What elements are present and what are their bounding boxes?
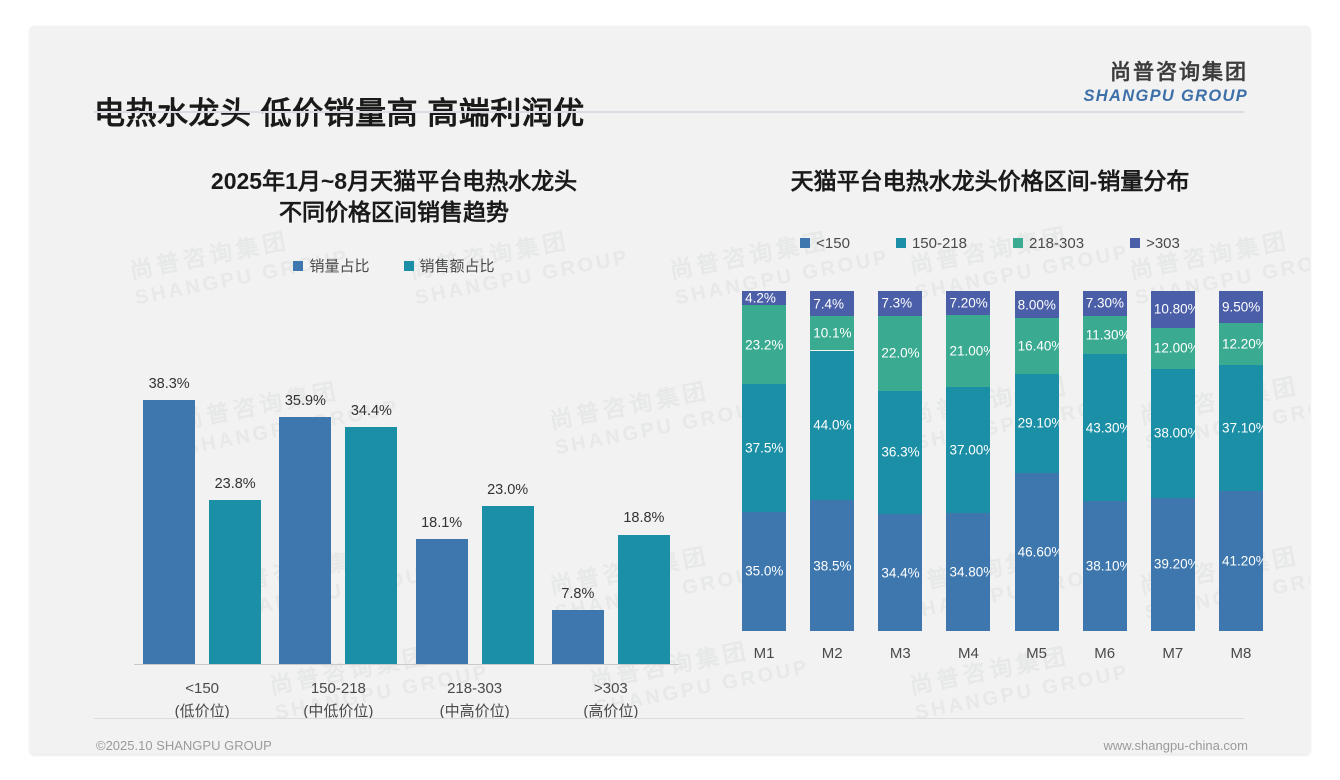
stack-segment-M8->303[interactable]: 9.50% xyxy=(1219,291,1263,323)
legend-item-right-1[interactable]: 150-218 xyxy=(896,235,967,252)
stack-segment-value-label: 7.20% xyxy=(949,296,987,311)
chart-panel-price-distribution: 天猫平台电热水龙头价格区间-销量分布 <150150-218218-303>30… xyxy=(710,166,1270,726)
legend-swatch-icon xyxy=(404,261,414,271)
slide-header: 电热水龙头 低价销量高 高端利润优 尚普咨询集团 SHANGPU GROUP xyxy=(30,26,1310,116)
stack-segment-value-label: 41.20% xyxy=(1222,553,1263,568)
stack-segment-value-label: 29.10% xyxy=(1018,416,1059,431)
stack-segment-value-label: 38.10% xyxy=(1086,559,1127,574)
stack-segment-value-label: 34.80% xyxy=(949,564,990,579)
bar-value-label: 18.1% xyxy=(408,515,476,531)
stack-segment-value-label: 36.3% xyxy=(881,445,919,460)
x-axis-category-label: 150-218(中低价位) xyxy=(270,678,406,723)
stack-segment-M8-218-303[interactable]: 12.20% xyxy=(1219,323,1263,364)
left-chart-plot-area: 38.3%23.8%<150(低价位)35.9%34.4%150-218(中低价… xyxy=(134,316,679,726)
stack-segment-value-label: 23.2% xyxy=(745,337,783,352)
stacked-bar-M2[interactable]: 7.4%10.1%44.0%38.5% xyxy=(810,291,854,631)
legend-item-label: 销售额占比 xyxy=(420,255,495,276)
bar-<150-销售额占比[interactable] xyxy=(209,500,261,664)
stack-segment-M2-150-218[interactable]: 44.0% xyxy=(810,351,854,501)
x-axis-line xyxy=(134,664,679,665)
stack-segment-value-label: 34.4% xyxy=(881,565,919,580)
x-axis-month-label: M1 xyxy=(730,645,798,662)
bar-218-303-销量占比[interactable] xyxy=(416,539,468,664)
bar-value-label: 38.3% xyxy=(135,376,203,392)
stack-segment-value-label: 9.50% xyxy=(1222,300,1260,315)
stack-segment-M2->303[interactable]: 7.4% xyxy=(810,291,854,316)
stack-segment-M6->303[interactable]: 7.30% xyxy=(1083,291,1127,316)
stacked-bar-M4[interactable]: 7.20%21.00%37.00%34.80% xyxy=(946,291,990,631)
stack-segment-value-label: 10.80% xyxy=(1154,302,1195,317)
stack-segment-value-label: 12.20% xyxy=(1222,337,1263,352)
stack-segment-value-label: 16.40% xyxy=(1018,339,1059,354)
stack-segment-M4-218-303[interactable]: 21.00% xyxy=(946,315,990,386)
legend-item-label: 150-218 xyxy=(912,235,967,252)
stack-segment-M5-<150[interactable]: 46.60% xyxy=(1015,473,1059,631)
legend-item-label: >303 xyxy=(1146,235,1180,252)
stack-segment-M7->303[interactable]: 10.80% xyxy=(1151,291,1195,328)
logo-english-text: SHANGPU GROUP xyxy=(1084,88,1249,105)
bar-<150-销量占比[interactable] xyxy=(143,400,195,664)
bar-150-218-销量占比[interactable] xyxy=(279,417,331,664)
x-axis-category-label: >303(高价位) xyxy=(543,678,679,723)
stack-segment-value-label: 46.60% xyxy=(1018,544,1059,559)
stack-segment-M1-218-303[interactable]: 23.2% xyxy=(742,305,786,384)
brand-logo: 尚普咨询集团 SHANGPU GROUP xyxy=(1084,62,1249,105)
stack-segment-value-label: 37.5% xyxy=(745,441,783,456)
stack-segment-value-label: 7.30% xyxy=(1086,296,1124,311)
x-axis-month-label: M2 xyxy=(798,645,866,662)
right-chart-title: 天猫平台电热水龙头价格区间-销量分布 xyxy=(710,166,1270,197)
stack-segment-M6-150-218[interactable]: 43.30% xyxy=(1083,354,1127,501)
legend-item-left-0[interactable]: 销量占比 xyxy=(293,255,369,276)
bar->303-销量占比[interactable] xyxy=(552,610,604,664)
stack-segment-M1->303[interactable]: 4.2% xyxy=(742,291,786,305)
legend-item-right-2[interactable]: 218-303 xyxy=(1013,235,1084,252)
stacked-bar-M3[interactable]: 7.3%22.0%36.3%34.4% xyxy=(878,291,922,631)
header-divider xyxy=(94,111,1244,113)
slide-card: 电热水龙头 低价销量高 高端利润优 尚普咨询集团 SHANGPU GROUP 尚… xyxy=(30,26,1310,754)
footer-copyright: ©2025.10 SHANGPU GROUP xyxy=(96,738,272,753)
stack-segment-value-label: 37.10% xyxy=(1222,420,1263,435)
stack-segment-M7-218-303[interactable]: 12.00% xyxy=(1151,328,1195,369)
bar->303-销售额占比[interactable] xyxy=(618,535,670,665)
stack-segment-M4-150-218[interactable]: 37.00% xyxy=(946,387,990,513)
bar-218-303-销售额占比[interactable] xyxy=(482,506,534,664)
stacked-bar-M8[interactable]: 9.50%12.20%37.10%41.20% xyxy=(1219,291,1263,631)
stacked-bar-M1[interactable]: 4.2%23.2%37.5%35.0% xyxy=(742,291,786,631)
stack-segment-M5->303[interactable]: 8.00% xyxy=(1015,291,1059,318)
x-axis-month-label: M6 xyxy=(1071,645,1139,662)
bar-value-label: 23.8% xyxy=(201,476,269,492)
stack-segment-M5-150-218[interactable]: 29.10% xyxy=(1015,374,1059,473)
legend-item-right-0[interactable]: <150 xyxy=(800,235,850,252)
left-chart-title-line2: 不同价格区间销售趋势 xyxy=(94,197,694,228)
left-chart-title-line1: 2025年1月~8月天猫平台电热水龙头 xyxy=(94,166,694,197)
stack-segment-value-label: 11.30% xyxy=(1086,328,1127,343)
stack-segment-M8-150-218[interactable]: 37.10% xyxy=(1219,365,1263,491)
stack-segment-value-label: 37.00% xyxy=(949,442,990,457)
bar-150-218-销售额占比[interactable] xyxy=(345,427,397,664)
stack-segment-value-label: 38.00% xyxy=(1154,426,1195,441)
x-axis-month-label: M3 xyxy=(866,645,934,662)
stack-segment-M3-150-218[interactable]: 36.3% xyxy=(878,391,922,514)
stack-segment-M2-<150[interactable]: 38.5% xyxy=(810,500,854,631)
stack-segment-M7-150-218[interactable]: 38.00% xyxy=(1151,369,1195,498)
legend-swatch-icon xyxy=(1013,238,1023,248)
bar-value-label: 23.0% xyxy=(474,482,542,498)
stack-segment-M1-<150[interactable]: 35.0% xyxy=(742,512,786,631)
stack-segment-value-label: 7.3% xyxy=(881,296,912,311)
bar-value-label: 35.9% xyxy=(271,393,339,409)
stacked-bar-M5[interactable]: 8.00%16.40%29.10%46.60% xyxy=(1015,291,1059,631)
stack-segment-value-label: 43.30% xyxy=(1086,420,1127,435)
legend-item-label: 销量占比 xyxy=(309,255,369,276)
legend-swatch-icon xyxy=(896,238,906,248)
left-chart-legend: 销量占比销售额占比 xyxy=(94,255,694,276)
footer-divider xyxy=(94,718,1244,719)
x-axis-month-label: M5 xyxy=(1003,645,1071,662)
category-tier-text: (高价位) xyxy=(543,701,679,724)
x-axis-category-label: 218-303(中高价位) xyxy=(407,678,543,723)
legend-item-label: <150 xyxy=(816,235,850,252)
slide-root: 电热水龙头 低价销量高 高端利润优 尚普咨询集团 SHANGPU GROUP 尚… xyxy=(0,0,1340,780)
stack-segment-M5-218-303[interactable]: 16.40% xyxy=(1015,318,1059,374)
category-range-text: 150-218 xyxy=(270,678,406,701)
stack-segment-value-label: 22.0% xyxy=(881,346,919,361)
x-axis-month-label: M8 xyxy=(1207,645,1275,662)
bar-value-label: 18.8% xyxy=(610,510,678,526)
category-tier-text: (低价位) xyxy=(134,701,270,724)
stack-segment-value-label: 4.2% xyxy=(745,291,776,305)
x-axis-month-label: M4 xyxy=(934,645,1002,662)
stack-segment-M3-218-303[interactable]: 22.0% xyxy=(878,316,922,391)
stack-segment-value-label: 7.4% xyxy=(813,296,844,311)
stack-segment-value-label: 8.00% xyxy=(1018,297,1056,312)
chart-panel-sales-trend: 2025年1月~8月天猫平台电热水龙头 不同价格区间销售趋势 销量占比销售额占比… xyxy=(94,166,694,726)
legend-swatch-icon xyxy=(293,261,303,271)
stack-segment-M3->303[interactable]: 7.3% xyxy=(878,291,922,316)
legend-swatch-icon xyxy=(1130,238,1140,248)
legend-item-right-3[interactable]: >303 xyxy=(1130,235,1180,252)
stack-segment-M3-<150[interactable]: 34.4% xyxy=(878,514,922,631)
bar-value-label: 34.4% xyxy=(337,403,405,419)
logo-chinese-text: 尚普咨询集团 xyxy=(1084,62,1249,83)
x-axis-category-label: <150(低价位) xyxy=(134,678,270,723)
stack-segment-value-label: 21.00% xyxy=(949,344,990,359)
stack-segment-M8-<150[interactable]: 41.20% xyxy=(1219,491,1263,631)
stack-segment-value-label: 38.5% xyxy=(813,558,851,573)
stacked-bar-M7[interactable]: 10.80%12.00%38.00%39.20% xyxy=(1151,291,1195,631)
stack-segment-M2-218-303[interactable]: 10.1% xyxy=(810,316,854,350)
stack-segment-value-label: 10.1% xyxy=(813,326,851,341)
legend-item-label: 218-303 xyxy=(1029,235,1084,252)
legend-item-left-1[interactable]: 销售额占比 xyxy=(404,255,495,276)
category-range-text: <150 xyxy=(134,678,270,701)
left-chart-title: 2025年1月~8月天猫平台电热水龙头 不同价格区间销售趋势 xyxy=(94,166,694,227)
stack-segment-M4->303[interactable]: 7.20% xyxy=(946,291,990,315)
category-range-text: 218-303 xyxy=(407,678,543,701)
stack-segment-value-label: 35.0% xyxy=(745,564,783,579)
category-tier-text: (中低价位) xyxy=(270,701,406,724)
right-chart-legend: <150150-218218-303>303 xyxy=(710,235,1270,252)
stack-segment-value-label: 44.0% xyxy=(813,418,851,433)
stack-segment-M4-<150[interactable]: 34.80% xyxy=(946,513,990,631)
stack-segment-value-label: 39.20% xyxy=(1154,557,1195,572)
legend-swatch-icon xyxy=(800,238,810,248)
stacked-bar-M6[interactable]: 7.30%11.30%43.30%38.10% xyxy=(1083,291,1127,631)
category-range-text: >303 xyxy=(543,678,679,701)
bar-value-label: 7.8% xyxy=(544,586,612,602)
stack-segment-M6-<150[interactable]: 38.10% xyxy=(1083,501,1127,631)
right-chart-plot-area: 4.2%23.2%37.5%35.0%M17.4%10.1%44.0%38.5%… xyxy=(730,291,1275,711)
footer-website: www.shangpu-china.com xyxy=(1103,738,1248,753)
category-tier-text: (中高价位) xyxy=(407,701,543,724)
x-axis-month-label: M7 xyxy=(1139,645,1207,662)
stack-segment-M1-150-218[interactable]: 37.5% xyxy=(742,384,786,512)
stack-segment-M6-218-303[interactable]: 11.30% xyxy=(1083,316,1127,354)
stack-segment-M7-<150[interactable]: 39.20% xyxy=(1151,498,1195,631)
stack-segment-value-label: 12.00% xyxy=(1154,341,1195,356)
